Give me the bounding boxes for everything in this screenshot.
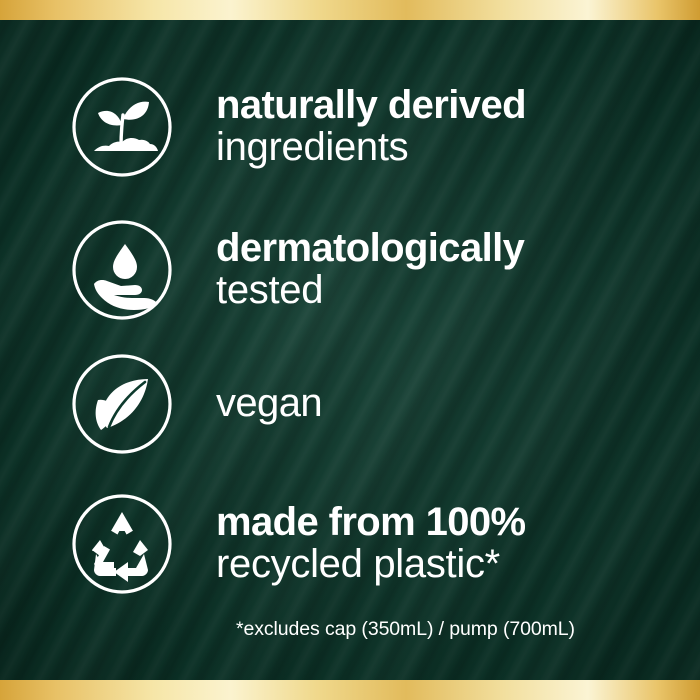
footnote: *excludes cap (350mL) / pump (700mL) — [236, 618, 575, 641]
list-item-text: dermatologically tested — [216, 228, 524, 311]
list-item-title: vegan — [216, 383, 322, 425]
list-item: vegan — [70, 352, 670, 456]
list-item-text: vegan — [216, 383, 322, 425]
gold-divider-bottom — [0, 680, 700, 700]
list-item: dermatologically tested — [70, 218, 670, 322]
list-item: naturally derived ingredients — [70, 75, 670, 179]
list-item: made from 100% recycled plastic* — [70, 492, 670, 596]
feature-list: naturally derived ingredients dermatolog… — [0, 20, 700, 680]
recycling-arrows-icon — [70, 492, 174, 596]
list-item-text: naturally derived ingredients — [216, 85, 526, 168]
gold-divider-top — [0, 0, 700, 20]
hand-droplet-icon — [70, 218, 174, 322]
list-item-title: dermatologically — [216, 228, 524, 270]
list-item-subtitle: tested — [216, 270, 524, 312]
seedling-plant-icon — [70, 75, 174, 179]
list-item-subtitle: ingredients — [216, 127, 526, 169]
leaves-vegan-icon — [70, 352, 174, 456]
list-item-title: made from 100% — [216, 502, 526, 544]
list-item-subtitle: recycled plastic* — [216, 544, 526, 586]
promo-banner: naturally derived ingredients dermatolog… — [0, 0, 700, 700]
list-item-text: made from 100% recycled plastic* — [216, 502, 526, 585]
list-item-title: naturally derived — [216, 85, 526, 127]
